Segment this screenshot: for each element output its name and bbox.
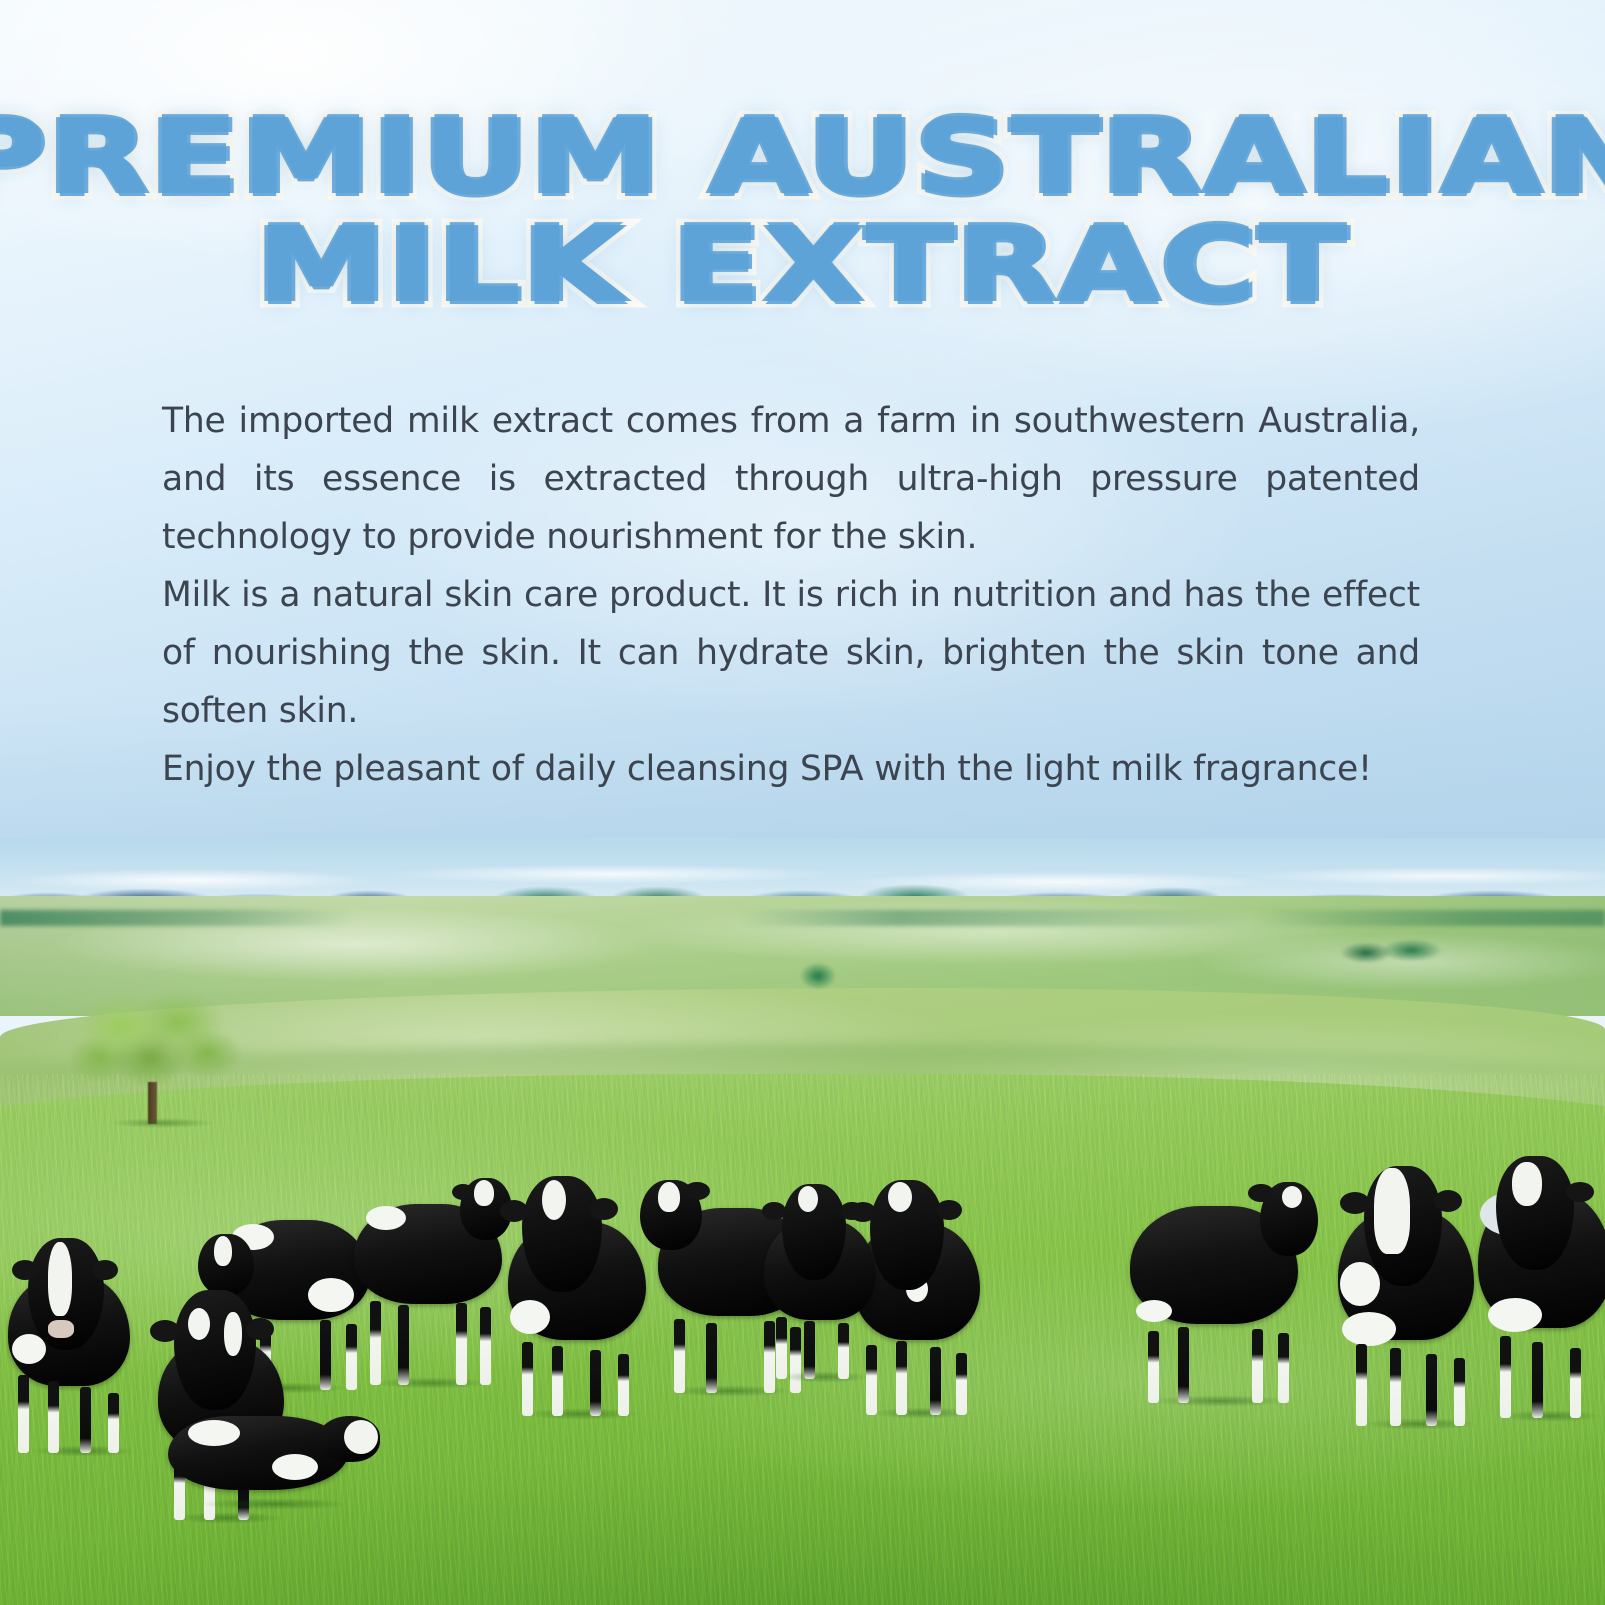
cow-face-blaze (188, 1308, 210, 1340)
cow-leg (896, 1341, 907, 1415)
cow-leg (18, 1375, 29, 1453)
cow-face-blaze (344, 1420, 378, 1454)
cow-face-blaze (1282, 1186, 1302, 1208)
cow (760, 1184, 890, 1379)
cow-herd (0, 838, 1605, 1605)
cow-ear-right (246, 1318, 274, 1340)
cow-ear-right (92, 1260, 118, 1280)
cow-leg (1570, 1348, 1581, 1418)
cow-face-blaze (214, 1236, 232, 1266)
cow-ear-left (1248, 1184, 1274, 1202)
cow-patch (1488, 1298, 1542, 1332)
cow-leg (1148, 1331, 1159, 1403)
cow-leg (1278, 1333, 1289, 1403)
cow-ear-right (1566, 1182, 1594, 1202)
cow-leg (706, 1323, 717, 1393)
cow (348, 1170, 516, 1385)
cow-face-blaze (888, 1182, 912, 1212)
description-paragraph-1: The imported milk extract comes from a f… (162, 392, 1420, 566)
cow-leg (590, 1350, 601, 1416)
cow-face-blaze (658, 1182, 680, 1212)
cow-leg (522, 1342, 533, 1416)
cow-leg (1500, 1336, 1511, 1418)
cow-leg (108, 1393, 119, 1453)
cow-ear-left (762, 1202, 786, 1220)
cow (8, 1238, 158, 1453)
cow-leg (1178, 1327, 1189, 1403)
cow-muzzle (48, 1320, 74, 1338)
cow-face-blaze (542, 1180, 566, 1220)
cow-ear-right (936, 1200, 962, 1220)
cow-shadow (172, 1496, 378, 1512)
cow-leg (1426, 1354, 1437, 1426)
cow-face-blaze (48, 1242, 72, 1316)
cow-ear-left (500, 1200, 528, 1222)
cow-lying (168, 1398, 383, 1506)
cow-leg (1454, 1358, 1465, 1426)
cow-ear-right (590, 1198, 618, 1220)
cow-ear-left (150, 1320, 180, 1342)
cow-patch (1342, 1312, 1396, 1346)
cow-leg (1390, 1348, 1401, 1426)
description-block: The imported milk extract comes from a f… (162, 392, 1420, 798)
cow-leg (674, 1319, 685, 1393)
cow-patch (366, 1206, 406, 1230)
cow-face-blaze (224, 1312, 242, 1356)
cow-patch (12, 1334, 46, 1364)
cow-patch (510, 1300, 550, 1334)
cow-leg (456, 1303, 467, 1385)
cow-leg (930, 1347, 941, 1415)
description-paragraph-3: Enjoy the pleasant of daily cleansing SP… (162, 740, 1420, 798)
cow-leg (956, 1353, 967, 1415)
cow-face-blaze (1374, 1168, 1410, 1254)
cow (1478, 1148, 1605, 1418)
cow-leg (480, 1307, 491, 1385)
cow-leg (1532, 1342, 1543, 1418)
cow-patch (1136, 1300, 1172, 1322)
cow-ear-right (1434, 1190, 1462, 1212)
cow-leg (80, 1387, 91, 1453)
cow-leg (1252, 1329, 1263, 1403)
cow-face-blaze (1512, 1162, 1542, 1206)
product-banner: PREMIUM AUSTRALIAN MILK EXTRACT The impo… (0, 0, 1605, 1605)
cow-ear-right (840, 1202, 864, 1220)
cow-ear-left (1340, 1192, 1370, 1214)
cow-leg (804, 1321, 815, 1379)
cow-leg (398, 1305, 409, 1385)
cow-ear-right (684, 1182, 710, 1200)
cow-leg (320, 1320, 331, 1390)
cow-patch (188, 1420, 240, 1446)
cow-head (174, 1290, 256, 1410)
cow-leg (48, 1381, 59, 1453)
cow (1120, 1168, 1320, 1403)
cow-leg (776, 1317, 787, 1379)
cow-ear-left (452, 1184, 474, 1200)
cow-leg (370, 1301, 381, 1385)
cow-ear-left (12, 1260, 38, 1280)
cow-face-blaze (798, 1186, 818, 1212)
cow-leg (618, 1354, 629, 1416)
cow-face-blaze (474, 1180, 494, 1206)
cow-leg (1356, 1344, 1367, 1426)
cow-patch (1340, 1262, 1380, 1306)
cow-leg (552, 1346, 563, 1416)
cow-patch (272, 1454, 318, 1480)
description-paragraph-2: Milk is a natural skin care product. It … (162, 566, 1420, 740)
cow-leg (838, 1323, 849, 1379)
